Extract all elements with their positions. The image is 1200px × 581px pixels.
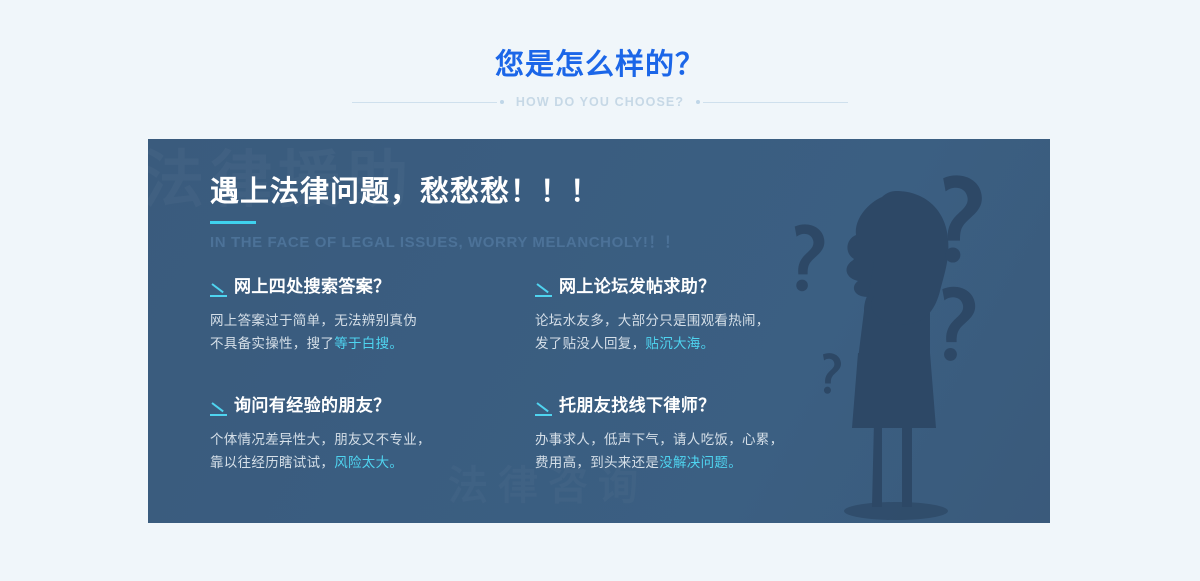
item-body-line1: 办事求人，低声下气，请人吃饭，心累， — [535, 432, 783, 447]
item-body: 个体情况差异性大，朋友又不专业， 靠以往经历瞎试试，风险太大。 — [210, 428, 535, 474]
item-body-line1: 网上答案过于简单，无法辨别真伪 — [210, 313, 417, 328]
content-panel: 法律援助 法律咨询 遇上法律问题，愁愁愁！！！ IN THE FACE OF L… — [148, 139, 1050, 523]
item-body-line2-prefix: 不具备实操性，搜了 — [210, 336, 334, 351]
divider-right — [696, 100, 848, 104]
page-subtitle: HOW DO YOU CHOOSE? — [516, 95, 684, 109]
item-title-row: 托朋友找线下律师？ — [535, 395, 860, 418]
items-grid: 网上四处搜索答案？ 网上答案过于简单，无法辨别真伪 不具备实操性，搜了等于白搜。… — [210, 276, 860, 474]
item-body: 论坛水友多，大部分只是围观看热闹， 发了贴没人回复，贴沉大海。 — [535, 309, 860, 355]
list-item: 网上论坛发帖求助？ 论坛水友多，大部分只是围观看热闹， 发了贴没人回复，贴沉大海… — [535, 276, 860, 355]
arrow-underline-icon — [535, 280, 552, 299]
item-title-row: 网上论坛发帖求助？ — [535, 276, 860, 299]
list-item: 托朋友找线下律师？ 办事求人，低声下气，请人吃饭，心累， 费用高，到头来还是没解… — [535, 395, 860, 474]
item-body: 网上答案过于简单，无法辨别真伪 不具备实操性，搜了等于白搜。 — [210, 309, 535, 355]
item-body: 办事求人，低声下气，请人吃饭，心累， 费用高，到头来还是没解决问题。 — [535, 428, 860, 474]
list-item: 网上四处搜索答案？ 网上答案过于简单，无法辨别真伪 不具备实操性，搜了等于白搜。 — [210, 276, 535, 355]
item-body-highlight: 没解决问题。 — [659, 455, 742, 470]
divider-left-dot — [500, 100, 504, 104]
arrow-underline-icon — [210, 399, 227, 418]
item-title: 询问有经验的朋友？ — [234, 395, 391, 417]
item-body-highlight: 贴沉大海。 — [645, 336, 714, 351]
divider-left — [352, 100, 504, 104]
item-body-line1: 个体情况差异性大，朋友又不专业， — [210, 432, 431, 447]
list-item: 询问有经验的朋友？ 个体情况差异性大，朋友又不专业， 靠以往经历瞎试试，风险太大… — [210, 395, 535, 474]
item-body-line2-prefix: 费用高，到头来还是 — [535, 455, 659, 470]
item-title: 网上四处搜索答案？ — [234, 276, 391, 298]
item-title-row: 询问有经验的朋友？ — [210, 395, 535, 418]
item-title-row: 网上四处搜索答案？ — [210, 276, 535, 299]
item-title: 网上论坛发帖求助？ — [559, 276, 716, 298]
accent-bar — [210, 221, 256, 224]
item-body-line1: 论坛水友多，大部分只是围观看热闹， — [535, 313, 770, 328]
panel-heading: 遇上法律问题，愁愁愁！！！ — [210, 172, 850, 212]
item-title: 托朋友找线下律师？ — [559, 395, 716, 417]
subtitle-row: HOW DO YOU CHOOSE? — [0, 92, 1200, 112]
item-body-line2-prefix: 发了贴没人回复， — [535, 336, 645, 351]
panel-subheading: IN THE FACE OF LEGAL ISSUES, WORRY MELAN… — [210, 233, 850, 253]
section-header: 您是怎么样的？ HOW DO YOU CHOOSE? — [0, 45, 1200, 112]
divider-left-bar — [352, 102, 497, 103]
item-body-highlight: 等于白搜。 — [334, 336, 403, 351]
divider-right-bar — [703, 102, 848, 103]
page-root: 您是怎么样的？ HOW DO YOU CHOOSE? 法律援助 法律咨询 遇上法… — [0, 0, 1200, 581]
arrow-underline-icon — [535, 399, 552, 418]
item-body-line2-prefix: 靠以往经历瞎试试， — [210, 455, 334, 470]
arrow-underline-icon — [210, 280, 227, 299]
item-body-highlight: 风险太大。 — [334, 455, 403, 470]
divider-right-dot — [696, 100, 700, 104]
panel-heading-block: 遇上法律问题，愁愁愁！！！ IN THE FACE OF LEGAL ISSUE… — [210, 172, 850, 253]
page-title: 您是怎么样的？ — [0, 45, 1200, 85]
